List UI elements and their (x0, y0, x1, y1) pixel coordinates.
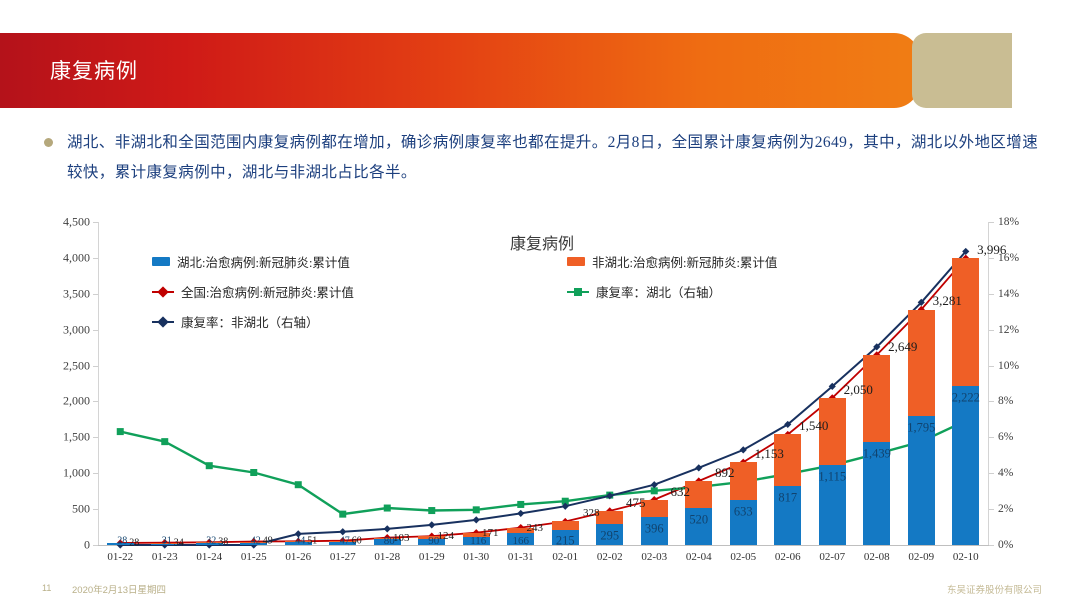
x-axis-label: 01-23 (152, 551, 178, 563)
footer-date: 2020年2月13日星期四 (72, 582, 166, 596)
line-marker (428, 507, 435, 514)
x-axis-label: 01-26 (285, 551, 311, 563)
bar-value-label-hubei: 295 (600, 528, 619, 543)
y-axis-left-label: 3,000 (63, 322, 90, 337)
line-marker (384, 525, 391, 532)
x-axis-label: 01-22 (107, 551, 133, 563)
x-axis-label: 02-04 (686, 551, 712, 563)
line-value-label-national: 171 (482, 527, 499, 539)
y-axis-right-label: 4% (998, 467, 1013, 479)
bar-segment-non-hubei[interactable] (596, 511, 623, 524)
y-tick-left (93, 545, 98, 546)
bar-value-label-hubei: 32 (206, 536, 216, 547)
bar-segment-non-hubei[interactable] (908, 310, 935, 417)
bar-segment-non-hubei[interactable] (552, 521, 579, 529)
y-tick-right (989, 294, 994, 295)
y-axis-right-label: 14% (998, 288, 1019, 300)
y-axis-left-label: 4,500 (63, 215, 90, 230)
line-value-label-national: 892 (715, 465, 735, 481)
line-marker (250, 469, 257, 476)
y-tick-left (93, 437, 98, 438)
x-axis-label: 01-29 (419, 551, 445, 563)
line-marker (161, 438, 168, 445)
line-value-label-national: 3,996 (977, 242, 1006, 258)
y-tick-right (989, 437, 994, 438)
x-axis-label: 01-31 (508, 551, 534, 563)
bar-segment-hubei[interactable] (952, 386, 979, 545)
bar-value-label-hubei: 1,115 (818, 469, 846, 484)
x-axis-label: 01-30 (463, 551, 489, 563)
x-axis-label: 02-10 (953, 551, 979, 563)
line-value-label-national: 103 (393, 532, 410, 544)
y-tick-right (989, 545, 994, 546)
line-value-label-national: 632 (671, 484, 691, 500)
bar-value-label-hubei: 31 (162, 536, 172, 547)
line-value-label-national: 2,649 (888, 339, 917, 355)
y-tick-right (989, 366, 994, 367)
y-axis-right-label: 18% (998, 216, 1019, 228)
y-tick-left (93, 258, 98, 259)
line-marker (206, 462, 213, 469)
line-marker (339, 511, 346, 518)
footer-company: 东吴证券股份有限公司 (947, 582, 1042, 596)
line-value-label-national: 124 (438, 530, 455, 542)
line-marker (517, 510, 524, 517)
y-tick-right (989, 401, 994, 402)
y-axis-right-label: 12% (998, 324, 1019, 336)
x-axis-label: 02-01 (552, 551, 578, 563)
line-marker (117, 428, 124, 435)
x-axis-label: 02-07 (819, 551, 845, 563)
line-value-label-national: 51 (307, 536, 317, 547)
x-axis-label: 02-08 (864, 551, 890, 563)
line-value-label-national: 38 (218, 537, 228, 548)
line-value-label-national: 3,281 (933, 293, 962, 309)
y-axis-left-label: 1,500 (63, 430, 90, 445)
bar-value-label-hubei: 166 (513, 535, 530, 547)
y-axis-right-label: 8% (998, 395, 1013, 407)
line-marker (695, 464, 702, 471)
y-axis-right-label: 6% (998, 431, 1013, 443)
y-axis-right-label: 2% (998, 503, 1013, 515)
y-tick-left (93, 222, 98, 223)
line-marker (651, 481, 658, 488)
y-tick-left (93, 330, 98, 331)
banner-gradient (0, 33, 920, 108)
y-tick-left (93, 366, 98, 367)
y-axis-left-label: 1,000 (63, 466, 90, 481)
bullet-dot-icon (44, 138, 53, 147)
y-axis-left-label: 4,000 (63, 250, 90, 265)
bar-value-label-hubei: 633 (734, 504, 753, 519)
banner-side-tab (912, 33, 1012, 108)
x-axis-label: 02-06 (775, 551, 801, 563)
line-marker (473, 516, 480, 523)
line-marker (295, 481, 302, 488)
y-axis-right-label: 0% (998, 539, 1013, 551)
x-axis-label: 01-25 (241, 551, 267, 563)
slide: 康复病例 湖北、非湖北和全国范围内康复病例都在增加，确诊病例康复率也都在提升。2… (0, 0, 1080, 608)
line-value-label-national: 243 (527, 522, 544, 534)
x-axis-label: 01-24 (196, 551, 222, 563)
y-tick-right (989, 509, 994, 510)
bar-value-label-hubei: 396 (645, 521, 664, 536)
x-axis-label: 01-28 (374, 551, 400, 563)
line-value-label-national: 2,050 (844, 382, 873, 398)
line-value-label-national: 328 (583, 507, 600, 519)
line-marker (651, 487, 658, 494)
bar-value-label-hubei: 1,439 (863, 446, 891, 461)
y-tick-left (93, 401, 98, 402)
summary-bullet: 湖北、非湖北和全国范围内康复病例都在增加，确诊病例康复率也都在提升。2月8日，全… (44, 128, 1044, 188)
y-axis-right-label: 10% (998, 360, 1019, 372)
line-marker (473, 506, 480, 513)
line-value-label-national: 28 (129, 537, 139, 548)
line-value-label-national: 49 (263, 536, 273, 547)
x-axis-label: 02-09 (908, 551, 934, 563)
y-axis-left-label: 2,500 (63, 358, 90, 373)
bar-value-label-hubei: 520 (689, 512, 708, 527)
y-axis-left-label: 2,000 (63, 394, 90, 409)
bar-segment-non-hubei[interactable] (863, 355, 890, 442)
y-tick-left (93, 294, 98, 295)
bar-value-label-hubei: 44 (295, 536, 305, 547)
bar-value-label-hubei: 47 (340, 536, 350, 547)
line-marker (517, 501, 524, 508)
x-axis-label: 01-27 (330, 551, 356, 563)
chart-container: 康复病例 湖北:治愈病例:新冠肺炎:累计值非湖北:治愈病例:新冠肺炎:累计值全国… (22, 208, 1062, 563)
bar-value-label-hubei: 817 (778, 491, 797, 506)
footer-page-number: 11 (42, 583, 51, 593)
y-tick-right (989, 473, 994, 474)
line-value-label-national: 475 (626, 495, 646, 511)
line-marker (384, 505, 391, 512)
bar-value-label-hubei: 42 (251, 536, 261, 547)
y-tick-left (93, 473, 98, 474)
x-axis-label: 02-05 (730, 551, 756, 563)
y-axis-left-label: 0 (84, 538, 90, 553)
bar-value-label-hubei: 215 (556, 534, 575, 549)
line-marker (428, 521, 435, 528)
y-tick-right (989, 222, 994, 223)
bar-value-label-hubei: 28 (117, 536, 127, 547)
summary-text: 湖北、非湖北和全国范围内康复病例都在增加，确诊病例康复率也都在提升。2月8日，全… (67, 128, 1044, 188)
line-value-label-national: 1,153 (755, 446, 784, 462)
y-axis-left-label: 500 (72, 502, 90, 517)
line-value-label-national: 60 (352, 535, 362, 546)
y-axis-left-label: 3,500 (63, 286, 90, 301)
x-axis-label: 02-03 (641, 551, 667, 563)
line-value-label-national: 34 (174, 537, 184, 548)
bar-value-label-hubei: 2,222 (952, 390, 980, 405)
y-axis-right (988, 222, 989, 545)
y-tick-right (989, 330, 994, 331)
bar-value-label-hubei: 1,795 (907, 421, 935, 436)
x-axis-label: 02-02 (597, 551, 623, 563)
line-value-label-national: 1,540 (799, 418, 828, 434)
header-banner: 康复病例 (0, 33, 1080, 108)
plot-area: 05001,0001,5002,0002,5003,0003,5004,0004… (98, 222, 988, 545)
page-title: 康复病例 (50, 55, 138, 85)
bar-segment-non-hubei[interactable] (952, 258, 979, 385)
y-tick-left (93, 509, 98, 510)
line-marker (339, 528, 346, 535)
